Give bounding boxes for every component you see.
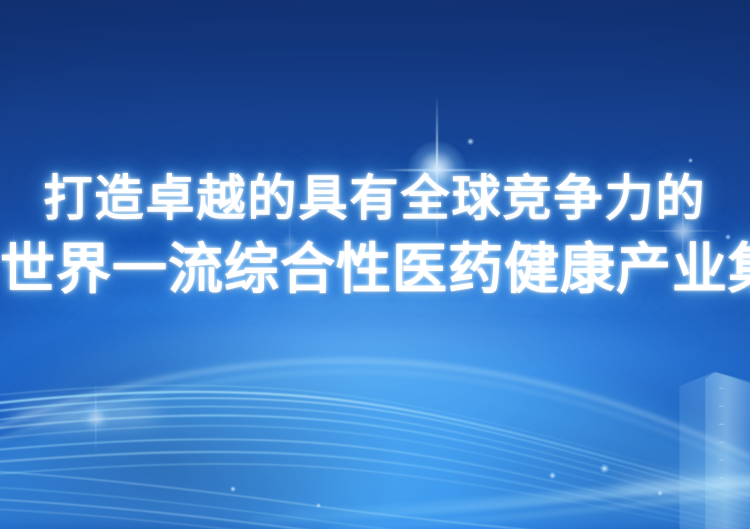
tower-chevrons <box>664 372 750 529</box>
headline-line-1: 打造卓越的具有全球竞争力的 <box>0 168 750 228</box>
vision-banner: 打造卓越的具有全球竞争力的 世界一流综合性医药健康产业集团 <box>0 0 750 529</box>
tower-chevron <box>693 477 748 493</box>
tower-silhouette <box>664 372 750 529</box>
tower-chevron <box>693 423 748 439</box>
tower-chevron <box>693 459 748 475</box>
headline-line-2: 世界一流综合性医药健康产业集团 <box>0 234 750 304</box>
tower-chevron <box>693 441 748 457</box>
tower-chevron <box>693 387 748 403</box>
headline-block: 打造卓越的具有全球竞争力的 世界一流综合性医药健康产业集团 <box>0 168 750 304</box>
tower-chevron <box>693 405 748 421</box>
